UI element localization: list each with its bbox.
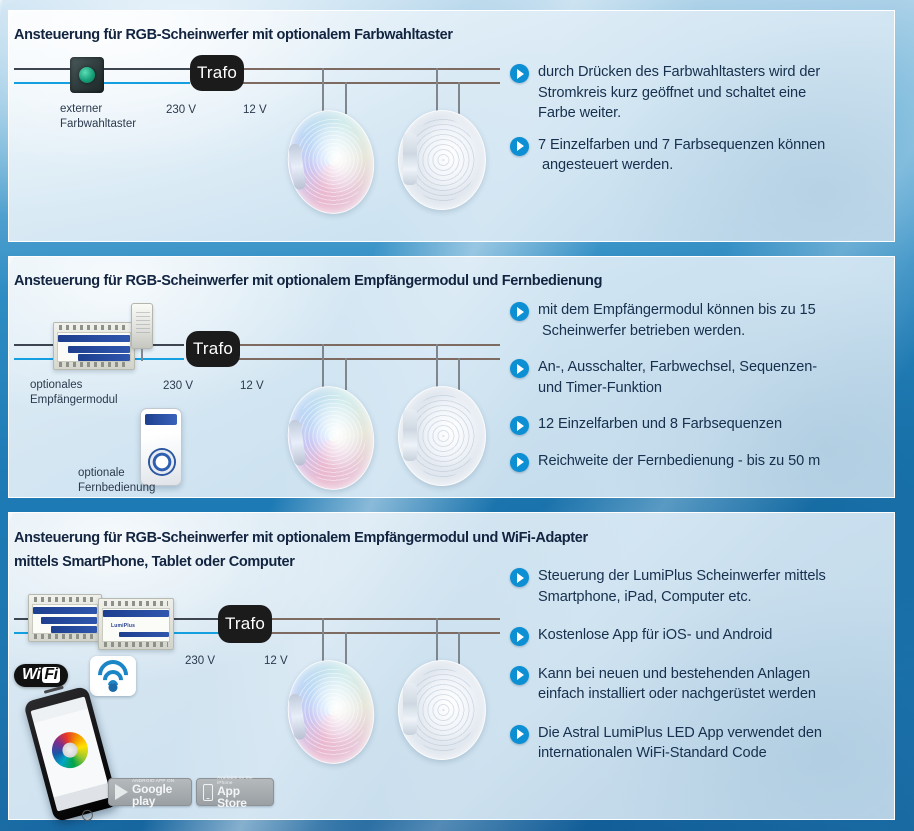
bullet-item: 7 Einzelfarben und 7 Farbsequenzen könne… bbox=[506, 135, 894, 176]
trafo-box: Trafo bbox=[186, 331, 240, 367]
receiver-module bbox=[53, 322, 135, 370]
panel-2-diagram: Trafo optionales Empfängermodul 230 V 12… bbox=[0, 300, 500, 498]
module-pins-top bbox=[104, 601, 168, 606]
module-pins-bottom bbox=[59, 362, 129, 367]
smartphone-mockup bbox=[23, 686, 119, 823]
wire-to-trafo-dark bbox=[105, 68, 190, 70]
wire-12v-top bbox=[240, 68, 500, 70]
sensor-drop bbox=[141, 349, 143, 361]
wire-12v-bottom bbox=[266, 632, 500, 634]
wire-12v-top bbox=[238, 344, 500, 346]
voltage-12v-label: 12 V bbox=[264, 655, 288, 667]
remote-top-strip bbox=[145, 414, 177, 425]
drop-lamp-1b bbox=[345, 82, 347, 114]
drop-lamp-2b bbox=[458, 82, 460, 114]
remote-label: optionale Fernbedienung bbox=[78, 466, 155, 496]
module-pins-top bbox=[34, 597, 96, 602]
wifi-signal-icon bbox=[90, 656, 136, 696]
wifi-adapter-module: LumiPlus bbox=[98, 598, 174, 650]
panel-1-diagram: Trafo externer Farbwahltaster 230 V 12 V bbox=[0, 52, 500, 232]
play-arrow-icon bbox=[510, 568, 529, 587]
receiver-module bbox=[28, 594, 102, 642]
bullet-item: 12 Einzelfarben und 8 Farbsequenzen bbox=[506, 414, 894, 435]
lamp-rgb-1 bbox=[281, 105, 381, 220]
phone-screen bbox=[30, 697, 111, 812]
panel-3-diagram: LumiPlus Trafo 230 V 12 V WiFi ANDROID A… bbox=[0, 580, 500, 820]
drop-lamp-1a bbox=[322, 344, 324, 388]
lamp-rgb-2 bbox=[281, 381, 381, 496]
push-button-label: externer Farbwahltaster bbox=[60, 102, 136, 132]
play-arrow-icon bbox=[510, 416, 529, 435]
drop-lamp-1a bbox=[322, 618, 324, 662]
module-strip-3 bbox=[78, 354, 130, 361]
play-arrow-icon bbox=[510, 137, 529, 156]
panel-2-bullet-list: mit dem Empfängermodul können bis zu 15 … bbox=[506, 300, 894, 471]
panel-1-bullet-list: durch Drücken des Farbwahltasters wird d… bbox=[506, 62, 894, 176]
google-play-icon bbox=[115, 784, 128, 800]
drop-lamp-1b bbox=[345, 358, 347, 390]
module-brand-label: LumiPlus bbox=[111, 623, 135, 629]
google-play-badge[interactable]: ANDROID APP ON Google play bbox=[108, 778, 192, 806]
module-strip-1 bbox=[103, 610, 169, 617]
drop-lamp-2a bbox=[436, 344, 438, 388]
lamp-white-2 bbox=[398, 386, 486, 486]
wire-to-trafo-blue bbox=[105, 82, 190, 84]
receiver-module-label: optionales Empfängermodul bbox=[30, 378, 118, 408]
color-wheel-icon bbox=[48, 728, 92, 772]
panel-3-title-line-2: mittels SmartPhone, Tablet oder Computer bbox=[14, 553, 295, 570]
app-store-badge[interactable]: Available on the iPhone App Store bbox=[196, 778, 274, 806]
voltage-12v-label: 12 V bbox=[243, 104, 267, 116]
drop-lamp-2b bbox=[458, 358, 460, 390]
bullet-item: Kostenlose App für iOS- und Android bbox=[506, 625, 894, 646]
drop-lamp-2b bbox=[458, 632, 460, 664]
bullet-item: Reichweite der Fernbedienung - bis zu 50… bbox=[506, 451, 894, 472]
bullet-item: Kann bei neuen und bestehenden Anlagen e… bbox=[506, 664, 894, 705]
module-strip-2 bbox=[119, 632, 169, 637]
sensor-module bbox=[131, 303, 153, 349]
module-strip-2 bbox=[41, 617, 97, 624]
bullet-item: mit dem Empfängermodul können bis zu 15 … bbox=[506, 300, 894, 341]
panel-3-bullet-list: Steuerung der LumiPlus Scheinwerfer mitt… bbox=[506, 566, 894, 764]
wifi-dot bbox=[109, 683, 118, 692]
panel-2-title: Ansteuerung für RGB-Scheinwerfer mit opt… bbox=[14, 272, 602, 289]
lamp-white-1 bbox=[398, 110, 486, 210]
module-strip-2 bbox=[68, 346, 130, 353]
drop-lamp-2a bbox=[436, 618, 438, 662]
play-arrow-icon bbox=[510, 453, 529, 472]
bullet-item: Steuerung der LumiPlus Scheinwerfer mitt… bbox=[506, 566, 894, 607]
iphone-icon bbox=[203, 784, 213, 801]
push-button-device bbox=[70, 57, 104, 93]
voltage-230v-label: 230 V bbox=[163, 380, 193, 392]
play-arrow-icon bbox=[510, 725, 529, 744]
wire-12v-top bbox=[266, 618, 500, 620]
bullet-item: durch Drücken des Farbwahltasters wird d… bbox=[506, 62, 894, 124]
wire-12v-bottom bbox=[238, 358, 500, 360]
voltage-12v-label: 12 V bbox=[240, 380, 264, 392]
play-arrow-icon bbox=[510, 302, 529, 321]
module-strip-1 bbox=[33, 607, 97, 614]
trafo-box: Trafo bbox=[218, 605, 272, 643]
drop-lamp-1b bbox=[345, 632, 347, 664]
voltage-230v-label: 230 V bbox=[185, 655, 215, 667]
wifi-logo: WiFi bbox=[14, 664, 68, 687]
module-pins-top bbox=[59, 325, 129, 330]
panel-1-title: Ansteuerung für RGB-Scheinwerfer mit opt… bbox=[14, 26, 453, 43]
module-strip-1 bbox=[58, 335, 130, 342]
play-arrow-icon bbox=[510, 666, 529, 685]
module-pins-bottom bbox=[34, 634, 96, 639]
module-strip-3 bbox=[51, 626, 97, 633]
bullet-item: An-, Ausschalter, Farbwechsel, Sequenzen… bbox=[506, 357, 894, 398]
bullet-item: Die Astral LumiPlus LED App verwendet de… bbox=[506, 723, 894, 764]
wire-12v-bottom bbox=[240, 82, 500, 84]
drop-lamp-1a bbox=[322, 68, 324, 112]
voltage-230v-label: 230 V bbox=[166, 104, 196, 116]
play-arrow-icon bbox=[510, 359, 529, 378]
drop-lamp-2a bbox=[436, 68, 438, 112]
play-arrow-icon bbox=[510, 627, 529, 646]
lamp-rgb-3 bbox=[281, 655, 381, 770]
play-arrow-icon bbox=[510, 64, 529, 83]
panel-3-title-line-1: Ansteuerung für RGB-Scheinwerfer mit opt… bbox=[14, 529, 588, 546]
module-pins-bottom bbox=[104, 642, 168, 647]
lamp-white-3 bbox=[398, 660, 486, 760]
trafo-box: Trafo bbox=[190, 55, 244, 91]
